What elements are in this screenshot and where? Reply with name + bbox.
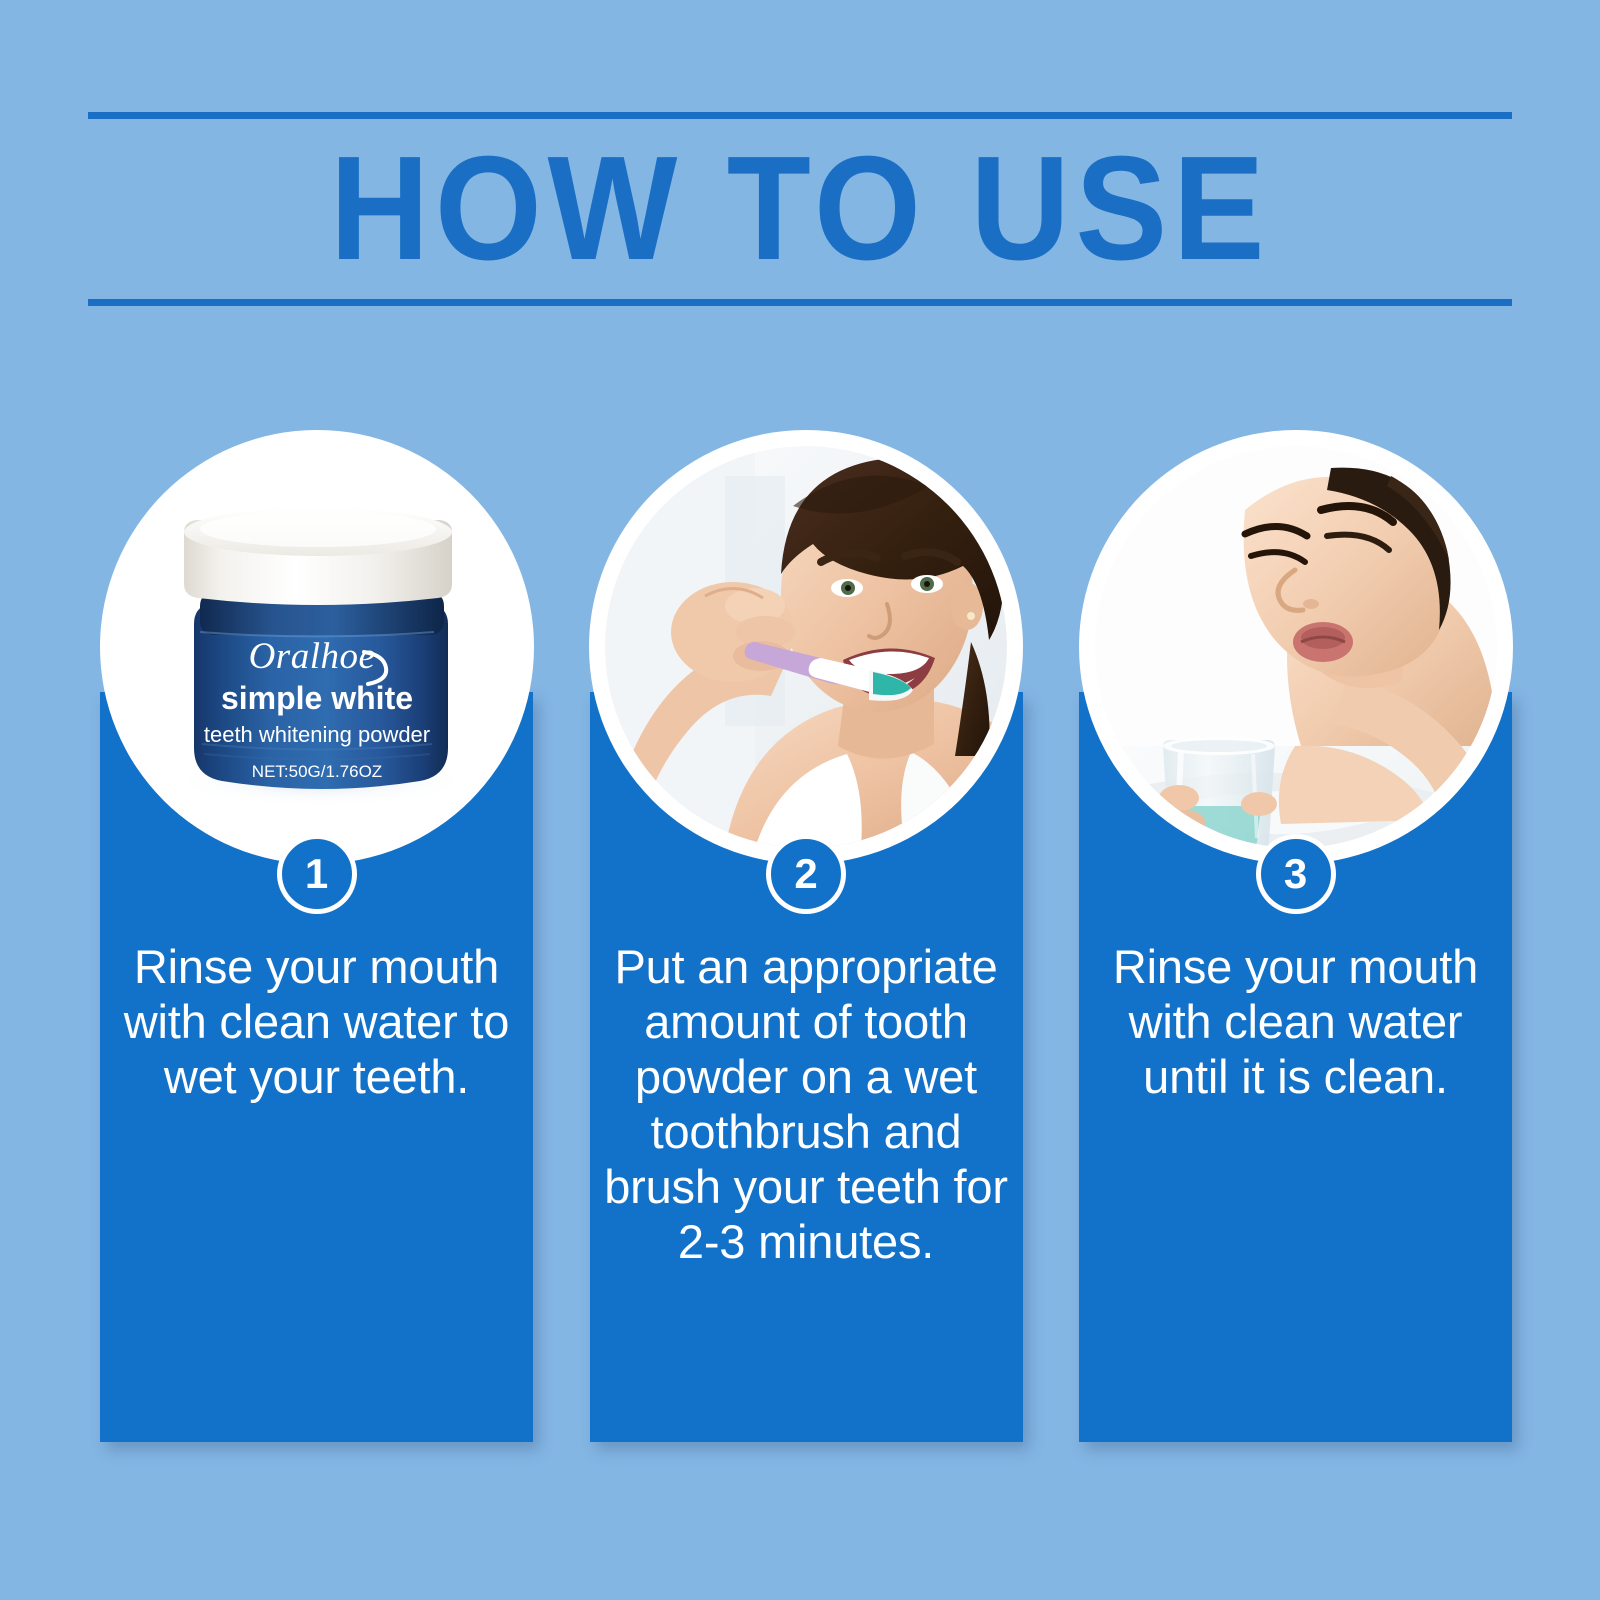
step-1-description: Rinse your mouth with clean water to wet… [112, 940, 521, 1105]
step-3-description: Rinse your mouth with clean water until … [1091, 940, 1500, 1105]
step-card-2: 2 Put an appropriate amount of tooth pow… [590, 430, 1023, 1442]
svg-text:teeth whitening powder: teeth whitening powder [203, 722, 429, 747]
svg-text:simple white: simple white [220, 680, 412, 716]
product-jar-photo: Oralhoe simple white teeth whitening pow… [116, 446, 518, 848]
step-card-1: Oralhoe simple white teeth whitening pow… [100, 430, 533, 1442]
rinsing-mouth-photo [1095, 446, 1497, 848]
step-card-3: 3 Rinse your mouth with clean water unti… [1079, 430, 1512, 1442]
svg-text:NET:50G/1.76OZ: NET:50G/1.76OZ [251, 762, 381, 781]
svg-text:Oralhoe: Oralhoe [248, 636, 375, 677]
step-2-description: Put an appropriate amount of tooth powde… [602, 940, 1011, 1270]
step-badge-3: 3 [1256, 834, 1336, 914]
page-title: HOW TO USE [138, 135, 1462, 283]
step-badge-2: 2 [766, 834, 846, 914]
step-badge-1: 1 [277, 834, 357, 914]
header-rule-top [88, 112, 1512, 119]
brushing-teeth-photo [605, 446, 1007, 848]
header-rule-bottom [88, 299, 1512, 306]
steps-container: Oralhoe simple white teeth whitening pow… [100, 430, 1512, 1442]
page-header: HOW TO USE [88, 112, 1512, 306]
